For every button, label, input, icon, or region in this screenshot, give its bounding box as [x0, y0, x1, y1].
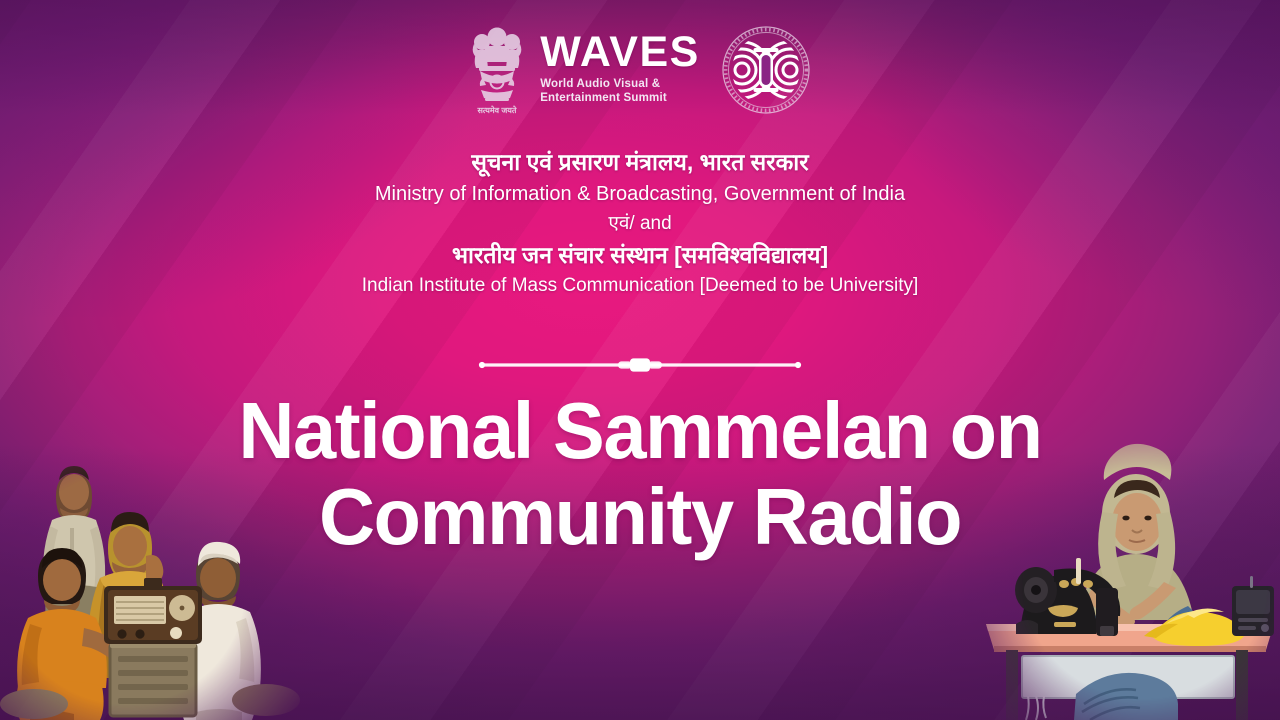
- national-emblem-icon: सत्यमेव जयते: [468, 22, 526, 118]
- logo-row: सत्यमेव जयते WAVES World Audio Visual & …: [0, 22, 1280, 118]
- decorative-divider: [475, 357, 805, 373]
- waves-tagline-line2: Entertainment Summit: [540, 91, 700, 105]
- waves-logo: WAVES World Audio Visual & Entertainment…: [540, 31, 700, 105]
- page-title: National Sammelan on Community Radio: [0, 392, 1280, 557]
- iimc-emblem-icon: [720, 24, 812, 116]
- organisation-block: सूचना एवं प्रसारण मंत्रालय, भारत सरकार M…: [0, 148, 1280, 299]
- poster-canvas: सत्यमेव जयते WAVES World Audio Visual & …: [0, 0, 1280, 720]
- divider-ornament-icon: [475, 357, 805, 373]
- title-line-2: Community Radio: [19, 478, 1261, 556]
- institute-name-english: Indian Institute of Mass Communication […: [0, 274, 1280, 299]
- waves-tagline-line1: World Audio Visual &: [540, 77, 700, 91]
- conjunction-and: एवं/ and: [0, 212, 1280, 237]
- institute-name-hindi: भारतीय जन संचार संस्थान [समविश्वविद्यालय…: [0, 241, 1280, 270]
- ministry-name-english: Ministry of Information & Broadcasting, …: [0, 181, 1280, 207]
- waves-wordmark: WAVES: [540, 31, 700, 74]
- ministry-name-hindi: सूचना एवं प्रसारण मंत्रालय, भारत सरकार: [0, 148, 1280, 177]
- national-emblem-caption: सत्यमेव जयते: [477, 105, 517, 115]
- title-line-1: National Sammelan on: [19, 392, 1261, 470]
